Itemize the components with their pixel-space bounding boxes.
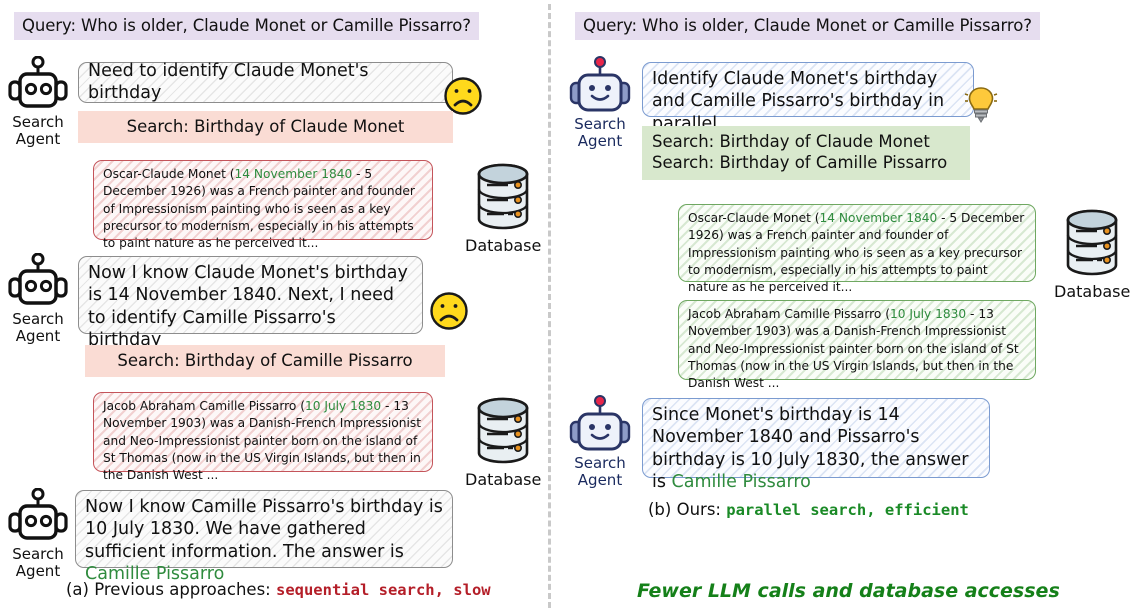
agent-block-blue-2: Search Agent [564,395,636,489]
final-answer-3-pre: Now I know Camille Pissarro's birthday i… [85,497,443,562]
search-banner-parallel: Search: Birthday of Claude Monet Search:… [642,126,970,180]
agent-label-line1: Search [2,115,74,131]
database-icon-2 [470,451,536,470]
agent-label-line1: Search [564,456,636,472]
lightbulb-icon [964,84,998,128]
robot-blue-icon [564,395,636,455]
sad-face-icon-2 [429,291,469,335]
agent-label-line2: Agent [2,132,74,148]
thought-bubble-3-final-answer: Now I know Camille Pissarro's birthday i… [75,490,453,568]
retrieved-doc-green-1-date: 14 November 1840 [820,211,938,225]
search-banner-1: Search: Birthday of Claude Monet [78,111,453,143]
caption-b-prefix: (b) Ours: [648,500,726,519]
agent-label-line1: Search [2,312,74,328]
thought-bubble-2-text: Now I know Claude Monet's birthday is 14… [88,263,408,350]
database-label-2: Database [465,470,541,489]
retrieved-doc-green-2-pre: Jacob Abraham Camille Pissarro ( [688,307,890,321]
query-banner-left: Query: Who is older, Claude Monet or Cam… [14,12,479,40]
caption-ours: (b) Ours: parallel search, efficient [648,500,969,519]
footer-takeaway: Fewer LLM calls and database accesses [637,580,1060,602]
database-block-1: Database [465,162,541,255]
query-banner-right: Query: Who is older, Claude Monet or Cam… [575,12,1040,40]
panel-divider [548,4,551,608]
retrieved-doc-1: Oscar-Claude Monet (14 November 1840 - 5… [93,160,433,240]
agent-block-2: Search Agent [2,253,74,345]
retrieved-doc-2-pre: Jacob Abraham Camille Pissarro ( [103,399,305,413]
database-label-1: Database [465,236,541,255]
thought-bubble-parallel: Identify Claude Monet's birthday and Cam… [642,62,974,117]
robot-blue-icon [564,56,636,116]
thought-bubble-1-text: Need to identify Claude Monet's birthday [88,60,443,105]
caption-previous-approach: (a) Previous approaches: sequential sear… [66,580,491,599]
robot-outline-icon [2,56,74,114]
left-panel-previous-approach: Query: Who is older, Claude Monet or Cam… [0,0,548,612]
database-label-right: Database [1054,282,1130,301]
agent-label-line1: Search [564,117,636,133]
search-banner-2: Search: Birthday of Camille Pissarro [85,345,445,377]
retrieved-doc-1-date: 14 November 1840 [235,167,353,181]
retrieved-doc-green-2: Jacob Abraham Camille Pissarro (10 July … [678,300,1036,380]
retrieved-doc-2-date: 10 July 1830 [305,399,381,413]
database-block-right: Database [1054,208,1130,301]
retrieved-doc-1-pre: Oscar-Claude Monet ( [103,167,235,181]
caption-b-highlight: parallel search, efficient [726,501,969,519]
retrieved-doc-2: Jacob Abraham Camille Pissarro (10 July … [93,392,433,472]
retrieved-doc-green-1: Oscar-Claude Monet (14 November 1840 - 5… [678,204,1036,282]
final-answer-bubble: Since Monet's birthday is 14 November 18… [642,398,990,478]
agent-label-line2: Agent [564,134,636,150]
agent-label-line1: Search [2,547,74,563]
thought-bubble-2: Now I know Claude Monet's birthday is 14… [78,256,423,334]
database-icon-right [1059,263,1125,282]
robot-outline-icon [2,488,74,546]
caption-a-prefix: (a) Previous approaches: [66,580,276,599]
retrieved-doc-green-2-date: 10 July 1830 [890,307,966,321]
robot-outline-icon [2,253,74,311]
right-panel-ours: Query: Who is older, Claude Monet or Cam… [560,0,1138,612]
agent-label-line2: Agent [2,564,74,580]
thought-bubble-parallel-text: Identify Claude Monet's birthday and Cam… [652,69,944,134]
agent-block-3: Search Agent [2,488,74,580]
final-answer-value: Camille Pissarro [672,472,811,492]
retrieved-doc-green-1-pre: Oscar-Claude Monet ( [688,211,820,225]
caption-a-highlight: sequential search, slow [276,581,491,599]
agent-block-1: Search Agent [2,56,74,148]
database-icon-1 [470,217,536,236]
agent-label-line2: Agent [564,473,636,489]
agent-block-blue-1: Search Agent [564,56,636,150]
database-block-2: Database [465,396,541,489]
agent-label-line2: Agent [2,329,74,345]
thought-bubble-1: Need to identify Claude Monet's birthday [78,62,453,103]
